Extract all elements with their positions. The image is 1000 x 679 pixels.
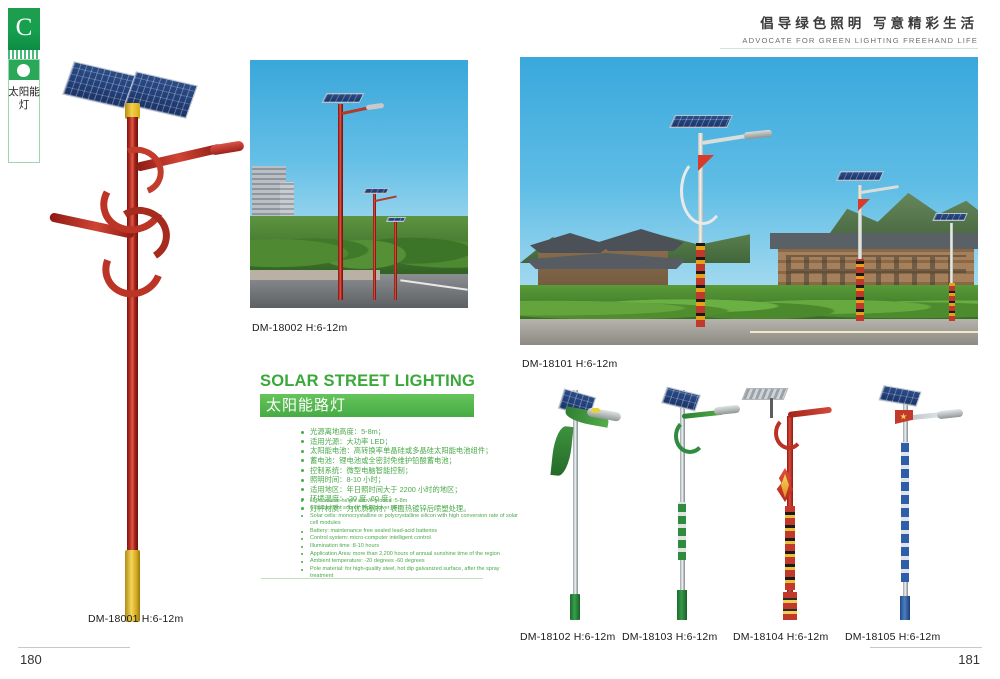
solar-panel [836,171,884,181]
luminaire-head [209,140,244,155]
page-number-right: 181 [958,652,980,667]
sidewalk [250,270,380,280]
pole-base [125,550,140,622]
solar-panel [386,217,406,222]
decor-curl [674,418,706,454]
product-caption-dm-18105: DM-18105 H:6-12m [845,631,940,643]
pole-decor-band [856,259,864,321]
product-caption-dm-18102: DM-18102 H:6-12m [520,631,615,643]
pole-decor-band [696,243,705,327]
page-number-left: 180 [20,652,42,667]
spec-list-en: Light source height above ground :5-8m S… [261,498,523,582]
luminaire-head [937,409,964,420]
spec-item: Solar cells: monocrystalline or polycrys… [301,513,523,528]
header-divider [720,48,978,49]
product-photo-dm-18002 [250,60,468,308]
footer-rule-right [870,647,982,648]
spec-item: Suitable light source: high power LED [301,505,523,513]
catalog-page: C 太阳能灯 倡导绿色照明 写意精彩生活 ADVOCATE FOR GREEN … [0,0,1000,679]
spec-item: 控制系统：微型电脑智能控制； [301,466,523,476]
index-tab-label: 太阳能灯 [8,86,40,112]
lamp-pole [950,223,953,283]
spec-item: Ambient temperature: -20 degrees -60 deg… [301,558,523,566]
slogan-cn: 倡导绿色照明 写意精彩生活 [742,12,978,32]
panel-mount [770,398,773,418]
lamp-pole [858,185,862,259]
pole-base [570,594,580,620]
roof [770,233,978,249]
index-tab[interactable]: C 太阳能灯 [8,8,40,163]
spec-item: Illumination time :8-10 hours [301,543,523,551]
spec-item: Control system: micro-computer intellige… [301,535,523,543]
product-illustration-dm-18102 [515,382,635,620]
product-caption-dm-18101: DM-18101 H:6-12m [522,358,617,370]
product-illustration-dm-18103 [622,382,742,620]
pole-base [783,592,797,620]
solar-panel [932,213,968,221]
road-marking [750,331,978,333]
lamp-pole [573,390,578,602]
spec-item: 适用光源：大功率 LED； [301,437,523,447]
solar-panel [363,188,390,194]
spec-item: 光源离地高度：5-8m； [301,427,523,437]
index-tab-letter: C [8,11,40,45]
spec-item: 照明时间：8-10 小时； [301,475,523,485]
pole-base [900,596,910,620]
product-title-en: SOLAR STREET LIGHTING [260,372,475,391]
lamp-pole [338,104,343,300]
pole-decor-band [678,502,686,560]
footer-rule-left [18,647,130,648]
spec-item: Application Area: more than 2,200 hours … [301,551,523,559]
product-illustration-dm-18001 [60,55,230,610]
pole-curve-decor [680,157,726,225]
product-illustration-dm-18105 [845,382,965,620]
lamp-pole [373,194,376,300]
product-photo-dm-18101 [520,57,978,345]
lamp-pole [394,222,397,300]
solar-panel [322,93,365,103]
product-caption-dm-18103: DM-18103 H:6-12m [622,631,717,643]
solar-panel [661,386,701,411]
spec-item: 太阳能电池：高转换率单晶硅或多晶硅太阳能电池组件； [301,446,523,456]
solar-panel [742,388,789,400]
slogan-en: ADVOCATE FOR GREEN LIGHTING FREEHAND LIF… [742,36,978,45]
leaf-decor [550,425,573,477]
product-caption-dm-18002: DM-18002 H:6-12m [252,322,347,334]
pole-decor-band [785,506,795,590]
product-caption-dm-18104: DM-18104 H:6-12m [733,631,828,643]
spec-item: 适用地区：年日照时间大于 2200 小时的地区； [301,485,523,495]
pole-decor-band [901,442,909,582]
decor-curl [774,416,804,450]
product-caption-dm-18001: DM-18001 H:6-12m [88,613,183,625]
tree-line [250,216,468,278]
spec-divider [261,578,483,579]
solar-panel [669,115,733,128]
spec-item: Battery: maintenance free sealed lead-ac… [301,528,523,536]
product-title-cn: 太阳能路灯 [266,396,346,416]
lamp-highlight [591,408,600,413]
circle-dot-icon [17,64,30,77]
index-tab-ridges [8,50,40,59]
pole-base [677,590,687,620]
spec-item: 蓄电池：锂电池或全密封免维护铅酸蓄电池； [301,456,523,466]
header-slogan: 倡导绿色照明 写意精彩生活 ADVOCATE FOR GREEN LIGHTIN… [742,12,978,45]
spec-item: Light source height above ground :5-8m [301,498,523,506]
pole-decor-band [949,283,955,321]
solar-panel [878,385,921,407]
product-illustration-dm-18104 [730,382,850,620]
